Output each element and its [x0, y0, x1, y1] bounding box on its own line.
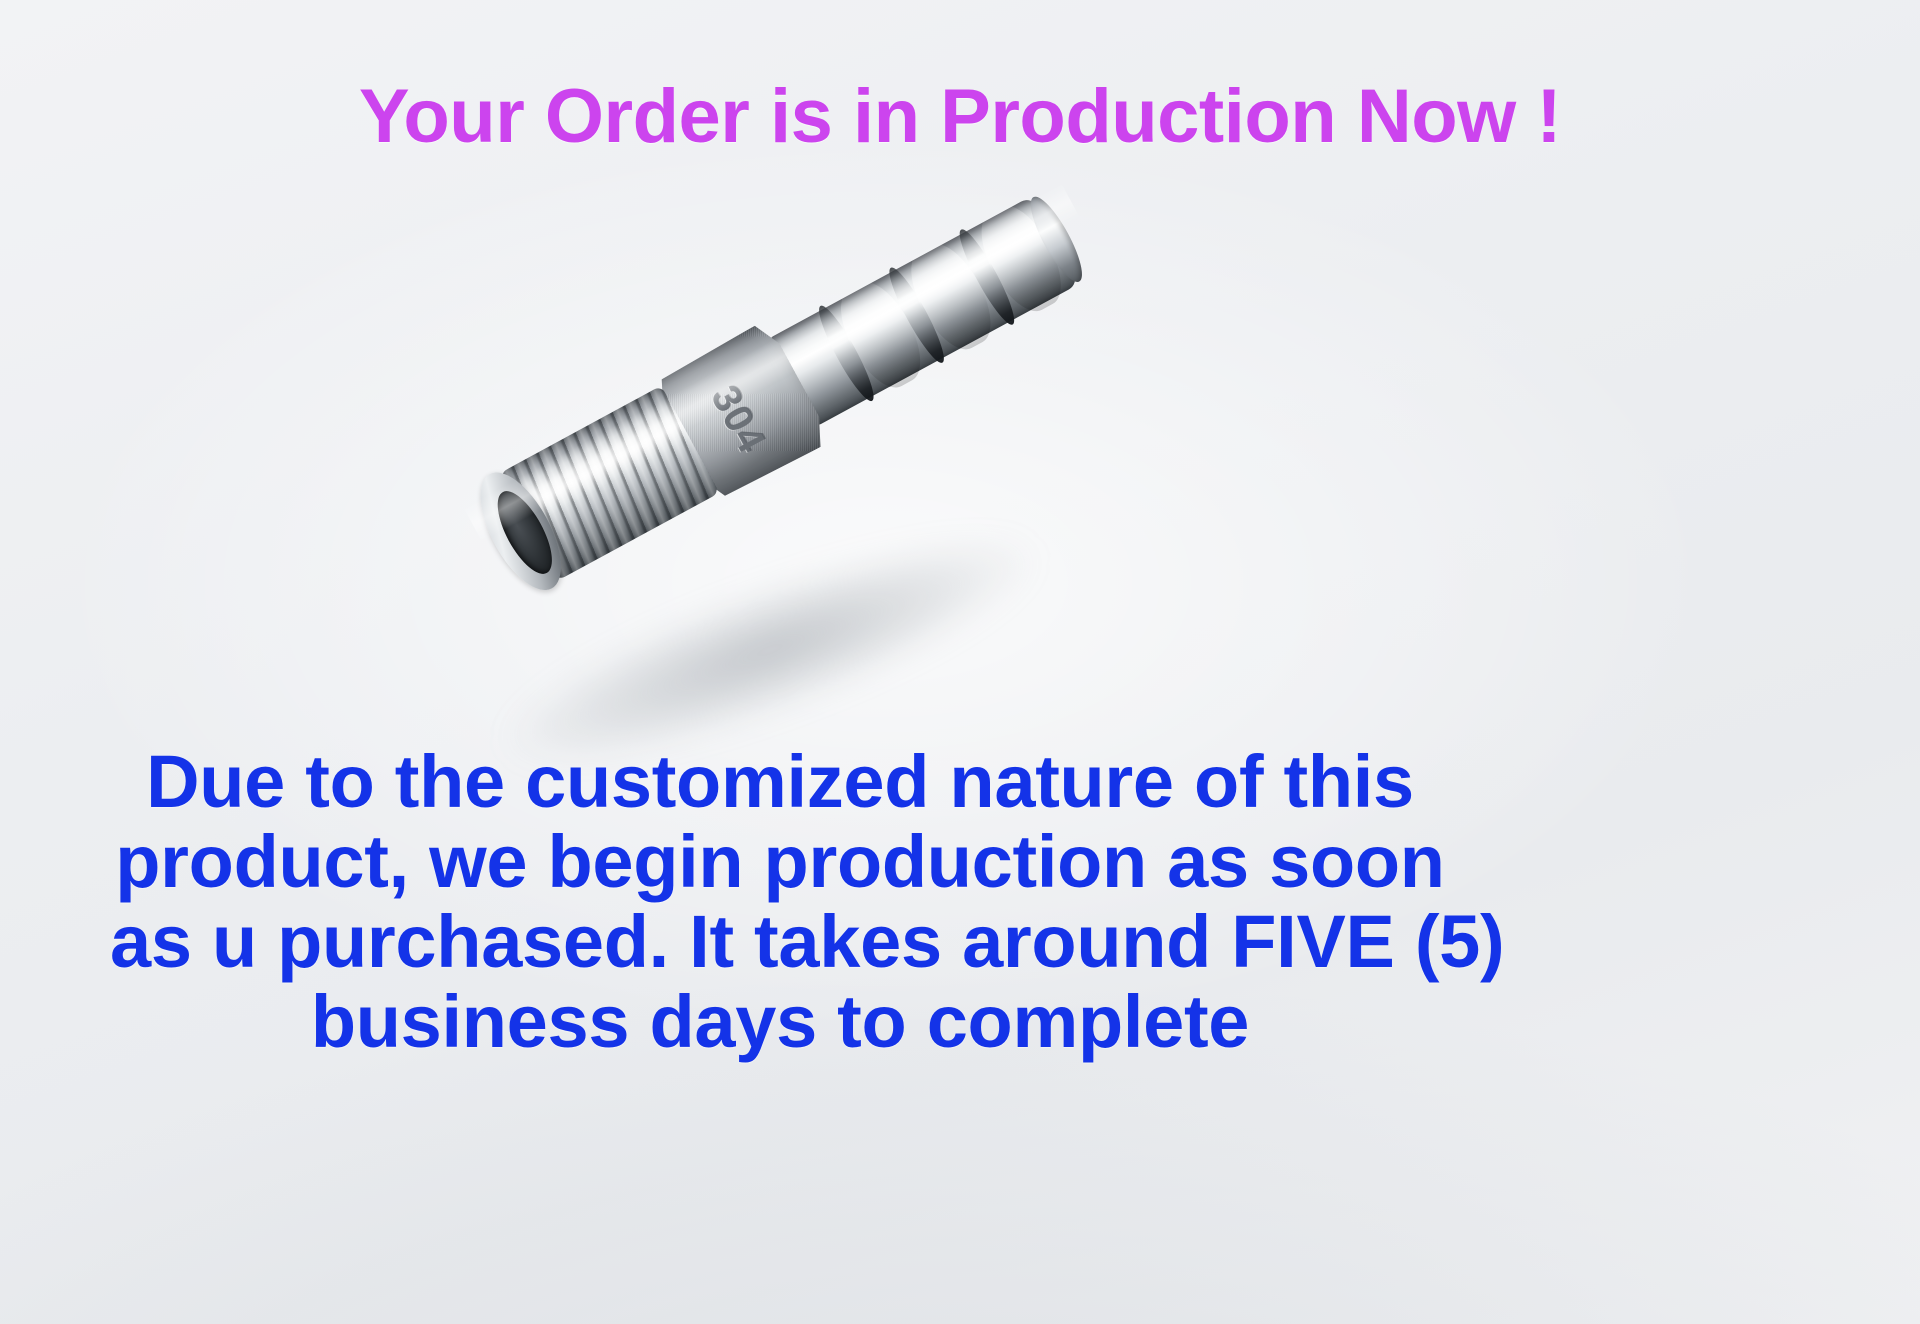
notice-line: as u purchased. It takes around FIVE (5): [110, 902, 1450, 982]
promo-banner: Your Order is in Production Now ! 304: [0, 0, 1920, 1324]
notice-line: Due to the customized nature of this: [110, 742, 1450, 822]
barb-section: [768, 196, 1079, 427]
product-photo: 304: [430, 290, 1170, 750]
notice-line: business days to complete: [110, 982, 1450, 1062]
page-title: Your Order is in Production Now !: [0, 74, 1920, 160]
production-notice-text: Due to the customized nature of this pro…: [110, 742, 1450, 1062]
notice-line: product, we begin production as soon: [110, 822, 1450, 902]
